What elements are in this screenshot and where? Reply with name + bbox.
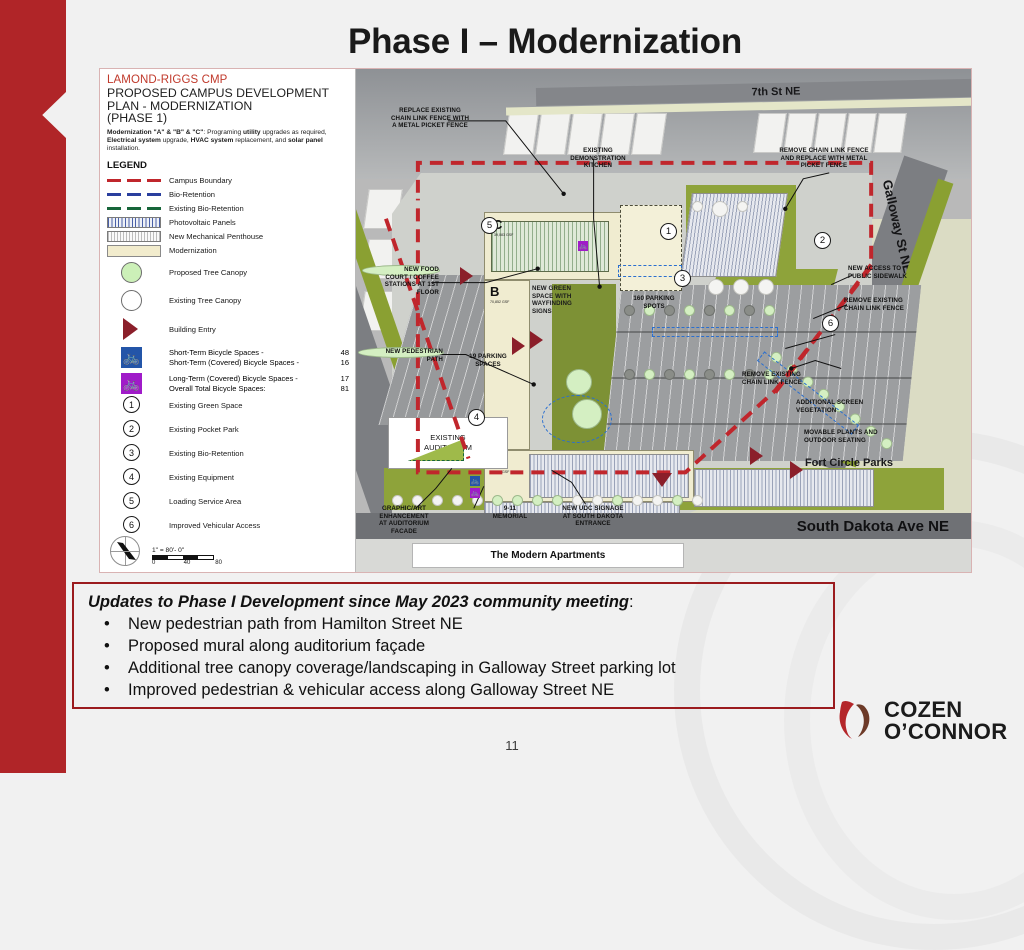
bike-label: Overall Total Bicycle Spaces: bbox=[169, 384, 327, 394]
bike-value: 17 bbox=[327, 374, 349, 384]
place-label-fort-circle-parks: Fort Circle Parks bbox=[805, 457, 893, 469]
building-gsf-b: 70,852 GSF bbox=[490, 300, 509, 304]
updates-bullet-2: • Proposed mural along auditorium façade bbox=[88, 637, 819, 656]
legend-label: Existing Pocket Park bbox=[169, 425, 239, 434]
tree-cluster-new-green bbox=[566, 369, 592, 395]
tree-row bbox=[692, 201, 748, 217]
bicycle-icon: 🚲 bbox=[121, 347, 142, 368]
legend-pane: LAMOND-RIGGS CMP PROPOSED CAMPUS DEVELOP… bbox=[100, 69, 355, 572]
bullet-text: Improved pedestrian & vehicular access a… bbox=[128, 681, 614, 700]
legend-item-short-term-bicycle: 🚲 Short-Term Bicycle Spaces - 48 Short-T… bbox=[107, 347, 351, 368]
legend-label: Existing Equipment bbox=[169, 473, 234, 482]
legend-label: Existing Bio-Retention bbox=[169, 449, 244, 458]
legend-label: Loading Service Area bbox=[169, 497, 241, 506]
existing-auditorium: EXISTING AUDITORIUM bbox=[388, 417, 508, 469]
updates-bullet-1: • New pedestrian path from Hamilton Stre… bbox=[88, 615, 819, 634]
tree-row bbox=[708, 279, 774, 295]
legend-item-existing-tree-canopy: Existing Tree Canopy bbox=[107, 290, 351, 311]
callout-graphic-art-enhancement: GRAPHIC/ARTENHANCEMENTAT AUDITORIUMFACAD… bbox=[362, 505, 446, 535]
legend-label: Campus Boundary bbox=[169, 176, 232, 185]
building-entry-marker bbox=[790, 461, 803, 479]
legend-item-2: 2 Existing Pocket Park bbox=[107, 420, 351, 438]
modernization-note: Modernization "A" & "B" & "C": Programin… bbox=[107, 129, 344, 154]
bike-value: 16 bbox=[327, 358, 349, 368]
callout-new-food-court: NEW FOODCOURT / COFFEESTATIONS AT 1STFLO… bbox=[362, 265, 440, 276]
legend-item-1: 1 Existing Green Space bbox=[107, 396, 351, 414]
legend-item-modernization: Modernization bbox=[107, 245, 351, 255]
callout-new-green-space: NEW GREENSPACE WITHWAYFINDINGSIGNS bbox=[532, 285, 594, 315]
cmp-name: LAMOND-RIGGS CMP bbox=[107, 74, 351, 86]
bike-value: 81 bbox=[327, 384, 349, 394]
bullet-marker: • bbox=[88, 659, 128, 678]
callout-911-memorial: 9-11MEMORIAL bbox=[482, 505, 538, 520]
legend-label: Existing Tree Canopy bbox=[169, 296, 241, 305]
page-number: 11 bbox=[0, 738, 1024, 753]
street-label-south-dakota: South Dakota Ave NE bbox=[356, 513, 971, 539]
scale-bar: 1" = 80'- 0" 0 40 80 bbox=[152, 547, 222, 566]
bicycle-icon: 🚲 bbox=[121, 373, 142, 394]
north-needle-icon bbox=[116, 541, 137, 562]
callout-movable-plants: MOVABLE PLANTS ANDOUTDOOR SEATING bbox=[804, 429, 900, 444]
place-label-modern-apartments: The Modern Apartments bbox=[412, 543, 684, 568]
callout-remove-fence-east: REMOVE EXISTINGCHAIN LINK FENCE bbox=[844, 297, 930, 312]
map-marker-3[interactable]: 3 bbox=[674, 270, 691, 287]
legend-item-4: 4 Existing Equipment bbox=[107, 468, 351, 486]
bullet-text: Proposed mural along auditorium façade bbox=[128, 637, 425, 656]
swatch-new-mechanical-penthouse bbox=[107, 231, 161, 241]
map-marker-6[interactable]: 6 bbox=[822, 315, 839, 332]
building-entry-marker bbox=[652, 473, 672, 487]
swatch-existing-bio-retention bbox=[107, 203, 161, 213]
legend-label: Building Entry bbox=[169, 325, 216, 334]
bicycle-icon-short-term-wrap: 🚲 bbox=[107, 347, 161, 368]
building-c-penthouse bbox=[491, 221, 609, 272]
updates-bullet-4: • Improved pedestrian & vehicular access… bbox=[88, 681, 819, 700]
bike-label: Long-Term (Covered) Bicycle Spaces - bbox=[169, 374, 327, 384]
legend-number-badge: 5 bbox=[123, 492, 140, 509]
legend-number-badge: 3 bbox=[123, 444, 140, 461]
legend-item-3: 3 Existing Bio-Retention bbox=[107, 444, 351, 462]
bullet-marker: • bbox=[88, 681, 128, 700]
callout-19-parking-spaces: 19 PARKINGSPACES bbox=[454, 353, 522, 368]
building-letter-b: B bbox=[490, 284, 499, 299]
legend-label: Modernization bbox=[169, 246, 217, 255]
swatch-existing-tree-canopy bbox=[107, 290, 161, 311]
bio-retention-area-center bbox=[542, 395, 612, 443]
callout-new-access-sidewalk: NEW ACCESS TOPUBLIC SIDEWALK bbox=[848, 265, 934, 280]
legend-item-proposed-tree-canopy: Proposed Tree Canopy bbox=[107, 262, 351, 283]
building-entry-marker bbox=[530, 331, 543, 349]
plan-title-line-1: PROPOSED CAMPUS DEVELOPMENT bbox=[107, 87, 351, 100]
plan-title: PROPOSED CAMPUS DEVELOPMENT PLAN - MODER… bbox=[107, 87, 351, 125]
legend-label: Improved Vehicular Access bbox=[169, 521, 260, 530]
aerial-basemap: 7th St NE Galloway St NE Hamilton St NE bbox=[356, 69, 971, 572]
north-arrow-and-scale: 1" = 80'- 0" 0 40 80 bbox=[110, 536, 222, 566]
plan-title-line-3: (PHASE 1) bbox=[107, 112, 351, 125]
updates-heading-colon: : bbox=[629, 593, 634, 611]
map-marker-4[interactable]: 4 bbox=[468, 409, 485, 426]
swatch-building-entry bbox=[107, 318, 161, 340]
updates-bullet-3: • Additional tree canopy coverage/landsc… bbox=[88, 659, 819, 678]
bicycle-icon-long-term-wrap: 🚲 bbox=[107, 373, 161, 394]
building-entry-marker bbox=[750, 447, 763, 465]
legend-item-6: 6 Improved Vehicular Access bbox=[107, 516, 351, 534]
building-gsf-a: 40,294 GSF bbox=[490, 470, 509, 474]
callout-new-pedestrian-path: NEW PEDESTRIANPATH bbox=[358, 347, 444, 358]
existing-demonstration-kitchen bbox=[620, 205, 682, 291]
callout-replace-fence-nw: REPLACE EXISTINGCHAIN LINK FENCE WITHA M… bbox=[374, 107, 486, 130]
swatch-campus-boundary bbox=[107, 175, 161, 185]
callout-160-parking-spots: 160 PARKINGSPOTS bbox=[618, 295, 690, 310]
swatch-bio-retention bbox=[107, 189, 161, 199]
updates-heading: Updates to Phase I Development since May… bbox=[88, 593, 819, 612]
scale-tick: 80 bbox=[199, 560, 222, 566]
legend-item-new-mechanical-penthouse: New Mechanical Penthouse bbox=[107, 231, 351, 241]
legend-item-long-term-bicycle: 🚲 Long-Term (Covered) Bicycle Spaces - 1… bbox=[107, 373, 351, 394]
scale-tick: 40 bbox=[175, 560, 198, 566]
swatch-photovoltaic-panels bbox=[107, 217, 161, 227]
scale-label: 1" = 80'- 0" bbox=[152, 547, 222, 554]
map-marker-5[interactable]: 5 bbox=[481, 217, 498, 234]
legend-label: New Mechanical Penthouse bbox=[169, 232, 263, 241]
north-arrow-icon bbox=[110, 536, 140, 566]
scale-tick: 0 bbox=[152, 560, 175, 566]
left-accent-band bbox=[0, 0, 66, 773]
callout-remove-fence-ne: REMOVE CHAIN LINK FENCEAND REPLACE WITH … bbox=[766, 147, 882, 170]
legend-item-5: 5 Loading Service Area bbox=[107, 492, 351, 510]
callout-demonstration-kitchen: EXISTINGDEMONSTRATIONKITCHEN bbox=[552, 147, 644, 170]
legend-number-badge: 1 bbox=[123, 396, 140, 413]
building-gsf-c: 39,083 GSF bbox=[494, 233, 513, 237]
updates-callout-box: Updates to Phase I Development since May… bbox=[72, 582, 835, 709]
legend-label: Existing Bio-Retention bbox=[169, 204, 244, 213]
legend-label: Bio-Retention bbox=[169, 190, 215, 199]
legend-item-bio-retention: Bio-Retention bbox=[107, 189, 351, 199]
legend-label: Proposed Tree Canopy bbox=[169, 268, 247, 277]
swatch-modernization bbox=[107, 245, 161, 255]
swatch-proposed-tree-canopy bbox=[107, 262, 161, 283]
bullet-text: New pedestrian path from Hamilton Street… bbox=[128, 615, 463, 634]
map-marker-1[interactable]: 1 bbox=[660, 223, 677, 240]
legend-number-badge: 6 bbox=[123, 516, 140, 533]
legend-item-existing-bio-retention: Existing Bio-Retention bbox=[107, 203, 351, 213]
site-plan-panel: LAMOND-RIGGS CMP PROPOSED CAMPUS DEVELOP… bbox=[99, 68, 972, 573]
bike-label: Short-Term Bicycle Spaces - bbox=[169, 348, 327, 358]
legend-item-building-entry: Building Entry bbox=[107, 318, 351, 340]
bio-retention-area-lot bbox=[652, 327, 778, 337]
bullet-text: Additional tree canopy coverage/landscap… bbox=[128, 659, 676, 678]
legend-heading: LEGEND bbox=[107, 160, 351, 171]
photovoltaic-array-southeast bbox=[694, 469, 874, 507]
legend-number-badge: 2 bbox=[123, 420, 140, 437]
legend-label: Existing Green Space bbox=[169, 401, 242, 410]
bullet-marker: • bbox=[88, 637, 128, 656]
bike-value: 48 bbox=[327, 348, 349, 358]
legend-item-photovoltaic-panels: Photovoltaic Panels bbox=[107, 217, 351, 227]
bicycle-icon: 🚲 bbox=[470, 476, 480, 486]
map-marker-2[interactable]: 2 bbox=[814, 232, 831, 249]
legend-label: Photovoltaic Panels bbox=[169, 218, 236, 227]
building-entry-marker bbox=[460, 267, 473, 285]
page-title: Phase I – Modernization bbox=[66, 22, 1024, 62]
callout-udc-signage: NEW UDC SIGNAGEAT SOUTH DAKOTAENTRANCE bbox=[546, 505, 640, 528]
bicycle-icon: 🚲 bbox=[578, 241, 588, 251]
legend-number-badge: 4 bbox=[123, 468, 140, 485]
site-plan-map[interactable]: 7th St NE Galloway St NE Hamilton St NE bbox=[355, 69, 971, 572]
bicycle-icon: 🚲 bbox=[470, 488, 480, 498]
legend-item-campus-boundary: Campus Boundary bbox=[107, 175, 351, 185]
bullet-marker: • bbox=[88, 615, 128, 634]
bio-retention-area-north bbox=[618, 265, 682, 277]
building-footprint bbox=[503, 113, 539, 155]
callout-additional-screen-vegetation: ADDITIONAL SCREENVEGETATION bbox=[796, 399, 886, 414]
callout-remove-fence-southeast: REMOVE EXISTINGCHAIN LINK FENCE bbox=[742, 371, 830, 386]
updates-heading-text: Updates to Phase I Development since May… bbox=[88, 593, 629, 611]
logo-line-1: COZEN bbox=[884, 699, 1007, 721]
bike-label: Short-Term (Covered) Bicycle Spaces - bbox=[169, 358, 327, 368]
